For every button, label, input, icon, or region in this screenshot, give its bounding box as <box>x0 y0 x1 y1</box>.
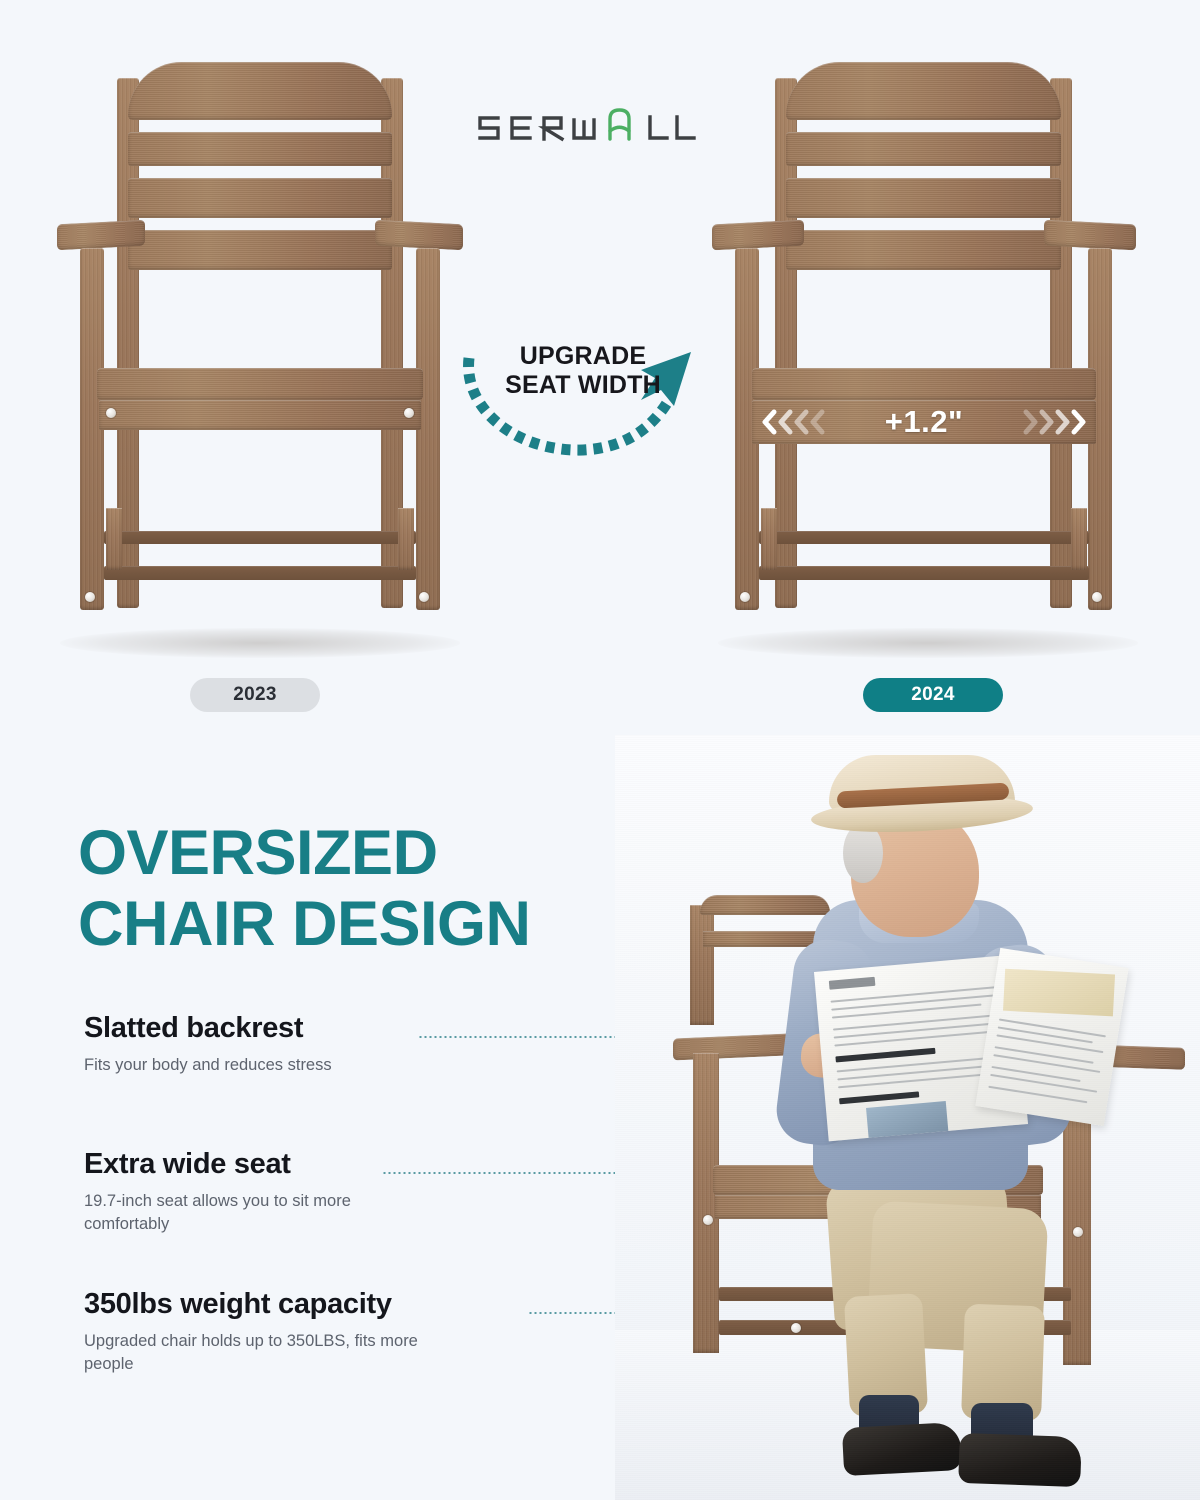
page-title: OVERSIZED CHAIR DESIGN <box>78 818 638 959</box>
screw-cap <box>404 408 414 418</box>
chair-2024-shadow <box>718 628 1138 658</box>
photo-chair-back-post-left <box>690 905 714 1025</box>
chair-seat <box>97 368 423 400</box>
chair-top-rail <box>128 62 392 120</box>
chair-stretcher-block-left <box>106 508 122 570</box>
person-hair <box>843 823 883 883</box>
feature-title: Extra wide seat <box>84 1148 554 1181</box>
feature-subtitle: Fits your body and reduces stress <box>84 1054 554 1077</box>
chair-stretcher-block-left <box>761 508 777 570</box>
screw-cap <box>1073 1227 1083 1237</box>
chair-2023-shadow <box>60 628 460 658</box>
year-badge-2024: 2024 <box>863 678 1003 712</box>
upgrade-callout-text: UPGRADE SEAT WIDTH <box>493 342 673 400</box>
chair-seat-apron <box>99 400 421 430</box>
chair-armrest-left <box>57 220 145 251</box>
newspaper-masthead-small <box>829 977 876 990</box>
chair-stretcher-block-right <box>1071 508 1087 570</box>
upgrade-line-2: SEAT WIDTH <box>493 371 673 400</box>
seat-width-measure-bar: +1.2" <box>752 400 1096 444</box>
feature-item-weight-capacity: 350lbs weight capacity Upgraded chair ho… <box>84 1288 554 1377</box>
chair-back-slat-3 <box>786 230 1061 270</box>
chevrons-right-icon <box>1012 400 1088 444</box>
upgrade-line-1: UPGRADE <box>493 342 673 371</box>
screw-cap <box>106 408 116 418</box>
chair-armrest-right <box>375 220 463 251</box>
screw-cap <box>740 592 750 602</box>
chair-stretcher-block-right <box>398 508 414 570</box>
headline-line-1: OVERSIZED <box>78 818 638 889</box>
chair-armrest-right <box>1044 220 1136 251</box>
chair-stretcher-upper <box>104 531 416 544</box>
lifestyle-photo <box>615 735 1200 1500</box>
chair-back-slat-3 <box>128 230 392 270</box>
feature-subtitle: 19.7-inch seat allows you to sit more co… <box>84 1190 384 1237</box>
chair-stretcher-lower <box>759 566 1089 580</box>
upgrade-callout: UPGRADE SEAT WIDTH <box>455 330 715 470</box>
feature-title: Slatted backrest <box>84 1012 554 1045</box>
chair-back-slat-1 <box>128 132 392 166</box>
serwall-logo-icon <box>468 98 698 154</box>
feature-title: 350lbs weight capacity <box>84 1288 554 1321</box>
person-shoe-right <box>958 1433 1082 1487</box>
chair-seat <box>752 368 1096 400</box>
person-shoe-left <box>842 1422 962 1476</box>
feature-subtitle: Upgraded chair holds up to 350LBS, fits … <box>84 1330 464 1377</box>
chair-armrest-left <box>712 220 804 251</box>
newspaper-right-page <box>975 948 1128 1126</box>
chair-back-slat-2 <box>786 178 1061 218</box>
chair-stretcher-upper <box>759 531 1089 544</box>
screw-cap <box>1092 592 1102 602</box>
chair-top-rail <box>786 62 1061 120</box>
photo-chair-top-rail <box>700 895 830 915</box>
screw-cap <box>703 1215 713 1225</box>
chair-back-slat-1 <box>786 132 1061 166</box>
chair-stretcher-lower <box>104 566 416 580</box>
screw-cap <box>791 1323 801 1333</box>
infographic-root: +1.2" UPGRADE <box>0 0 1200 1500</box>
feature-item-extra-wide-seat: Extra wide seat 19.7-inch seat allows yo… <box>84 1148 554 1237</box>
year-badge-2023: 2023 <box>190 678 320 712</box>
feature-item-slatted-backrest: Slatted backrest Fits your body and redu… <box>84 1012 554 1077</box>
headline-line-2: CHAIR DESIGN <box>78 889 638 960</box>
screw-cap <box>419 592 429 602</box>
brand-logo <box>468 98 698 154</box>
chevrons-left-icon <box>760 400 836 444</box>
screw-cap <box>85 592 95 602</box>
newspaper-masthead-banner <box>1003 969 1115 1017</box>
measure-value: +1.2" <box>885 404 963 440</box>
chair-back-slat-2 <box>128 178 392 218</box>
